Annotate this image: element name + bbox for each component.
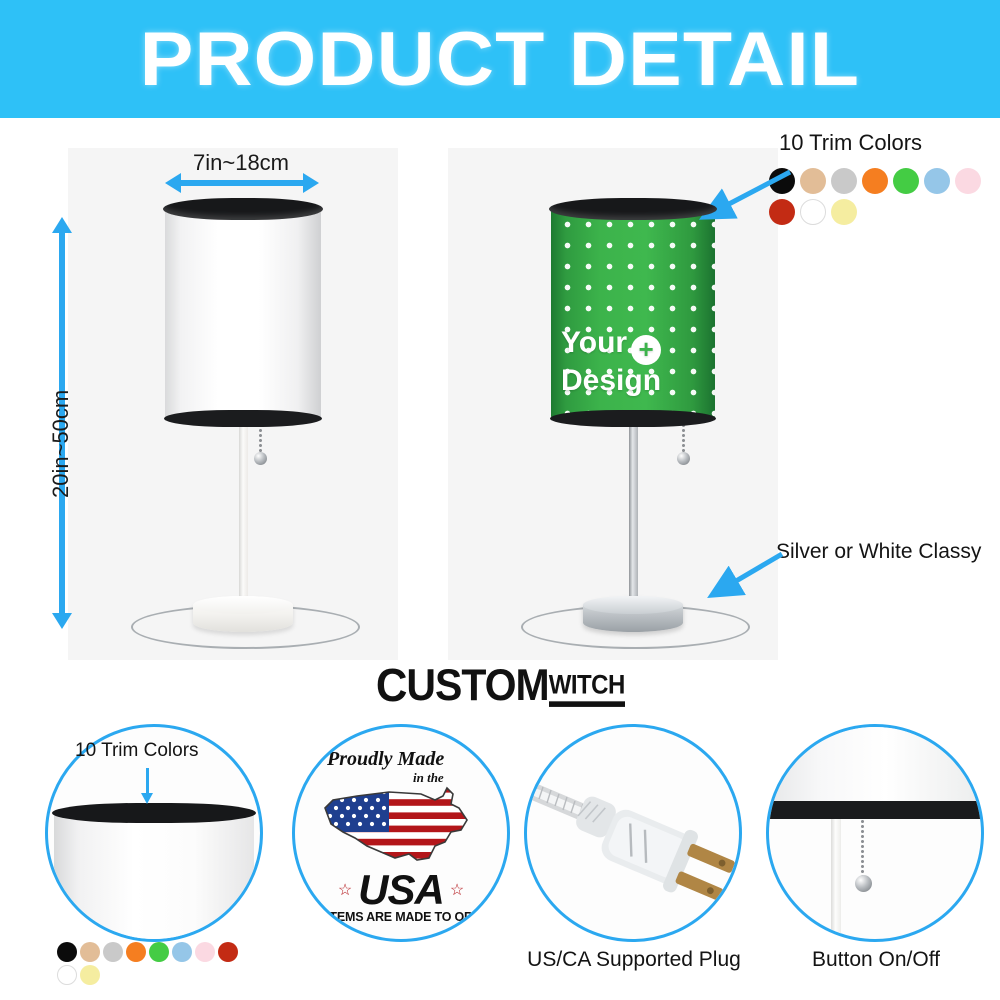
green-shade-bottom-trim bbox=[550, 410, 716, 427]
design-line-1: Your bbox=[561, 326, 627, 359]
star-left-icon: ☆ bbox=[338, 880, 352, 900]
star-right-icon: ☆ bbox=[450, 880, 464, 900]
trim-colors-down-arrow bbox=[146, 768, 149, 794]
trim-swatch-green[interactable] bbox=[893, 168, 919, 194]
page-title: PRODUCT DETAIL bbox=[140, 16, 860, 103]
usa-line-3: USA bbox=[358, 870, 444, 910]
trim-demo-shade bbox=[54, 811, 254, 942]
trim-swatch-yellow[interactable] bbox=[80, 965, 100, 985]
trim-demo-trim-band bbox=[52, 803, 256, 823]
switch-chain-ball[interactable] bbox=[855, 875, 872, 892]
green-lamp-pole bbox=[629, 418, 638, 606]
usa-badge: Proudly Made in the bbox=[295, 727, 507, 939]
width-dimension-label: 7in~18cm bbox=[193, 150, 289, 176]
trim-swatch-green[interactable] bbox=[149, 942, 169, 962]
height-dimension-label: 20in~50cm bbox=[48, 390, 74, 498]
product-detail-infographic: PRODUCT DETAIL 7in~18cm 20in~50cm bbox=[0, 0, 1000, 1000]
trim-swatch-pink[interactable] bbox=[195, 942, 215, 962]
trim-swatch-light-blue[interactable] bbox=[924, 168, 950, 194]
switch-caption: Button On/Off bbox=[758, 948, 994, 972]
trim-swatch-light-blue[interactable] bbox=[172, 942, 192, 962]
usa-line-4: ALL ITEMS ARE MADE TO ORDER! bbox=[299, 910, 502, 924]
header-banner: PRODUCT DETAIL bbox=[0, 0, 1000, 118]
trim-swatch-white[interactable] bbox=[800, 199, 826, 225]
green-lamp-chain-ball[interactable] bbox=[677, 452, 690, 465]
plus-icon: + bbox=[631, 335, 661, 365]
your-design-artwork: Your+ Design bbox=[561, 327, 702, 396]
brand-name-witch: WITCH bbox=[549, 671, 625, 707]
feature-trim-colors: 10 Trim Colors bbox=[45, 724, 265, 984]
switch-pull-chain[interactable] bbox=[861, 819, 864, 881]
trim-swatch-dark-red[interactable] bbox=[218, 942, 238, 962]
switch-shade-bottom bbox=[769, 727, 981, 805]
plug-caption: US/CA Supported Plug bbox=[516, 948, 752, 972]
white-lamp-shade bbox=[165, 208, 321, 420]
white-shade-top-trim bbox=[163, 198, 323, 220]
feature-plug: US/CA Supported Plug bbox=[524, 724, 744, 984]
white-lamp-base-top bbox=[193, 596, 293, 614]
usa-map-flag-icon bbox=[317, 786, 485, 872]
white-shade-face bbox=[165, 208, 321, 420]
trim-colors-swatches-bottom bbox=[57, 942, 257, 985]
trim-colors-heading-top: 10 Trim Colors bbox=[779, 130, 922, 156]
trim-swatch-black[interactable] bbox=[57, 942, 77, 962]
trim-colors-swatches-top bbox=[769, 168, 1000, 225]
us-plug-icon bbox=[527, 727, 739, 939]
trim-swatch-yellow[interactable] bbox=[831, 199, 857, 225]
green-lamp-base bbox=[583, 596, 683, 632]
trim-colors-heading-bottom: 10 Trim Colors bbox=[75, 740, 199, 762]
design-line-2: Design bbox=[561, 364, 661, 397]
trim-swatch-orange[interactable] bbox=[126, 942, 146, 962]
white-lamp-chain-ball[interactable] bbox=[254, 452, 267, 465]
base-finish-pointer-arrow bbox=[700, 548, 790, 606]
trim-swatch-tan[interactable] bbox=[800, 168, 826, 194]
made-in-usa-circle: Proudly Made in the bbox=[292, 724, 510, 942]
trim-swatch-tan[interactable] bbox=[80, 942, 100, 962]
trim-swatch-gray[interactable] bbox=[103, 942, 123, 962]
crescent-c-icon: C bbox=[376, 663, 408, 707]
feature-switch: Button On/Off bbox=[766, 724, 986, 984]
trim-swatch-orange[interactable] bbox=[862, 168, 888, 194]
green-lamp-shade: Your+ Design bbox=[551, 208, 715, 420]
usa-line-1: Proudly Made bbox=[327, 748, 444, 771]
plug-circle bbox=[524, 724, 742, 942]
switch-trim-band bbox=[769, 801, 981, 819]
feature-made-in-usa: Proudly Made in the bbox=[292, 724, 512, 984]
white-shade-bottom-trim bbox=[164, 410, 322, 427]
switch-pole bbox=[831, 819, 841, 939]
white-lamp-pole bbox=[239, 418, 248, 606]
trim-pointer-arrow bbox=[690, 168, 800, 230]
width-dimension-arrow bbox=[180, 180, 304, 186]
trim-swatch-white[interactable] bbox=[57, 965, 77, 985]
white-lamp-base bbox=[193, 596, 293, 632]
brand-logo: CUSTOMWITCH bbox=[0, 663, 1000, 707]
green-shade-face: Your+ Design bbox=[551, 208, 715, 420]
usa-line-2: in the bbox=[413, 770, 444, 786]
trim-swatch-gray[interactable] bbox=[831, 168, 857, 194]
switch-circle bbox=[766, 724, 984, 942]
brand-name-custom: USTOM bbox=[406, 661, 548, 709]
trim-swatch-pink[interactable] bbox=[955, 168, 981, 194]
base-finish-label: Silver or White Classy bbox=[776, 540, 981, 564]
green-shade-top-trim bbox=[549, 198, 717, 220]
green-lamp-base-top bbox=[583, 596, 683, 614]
